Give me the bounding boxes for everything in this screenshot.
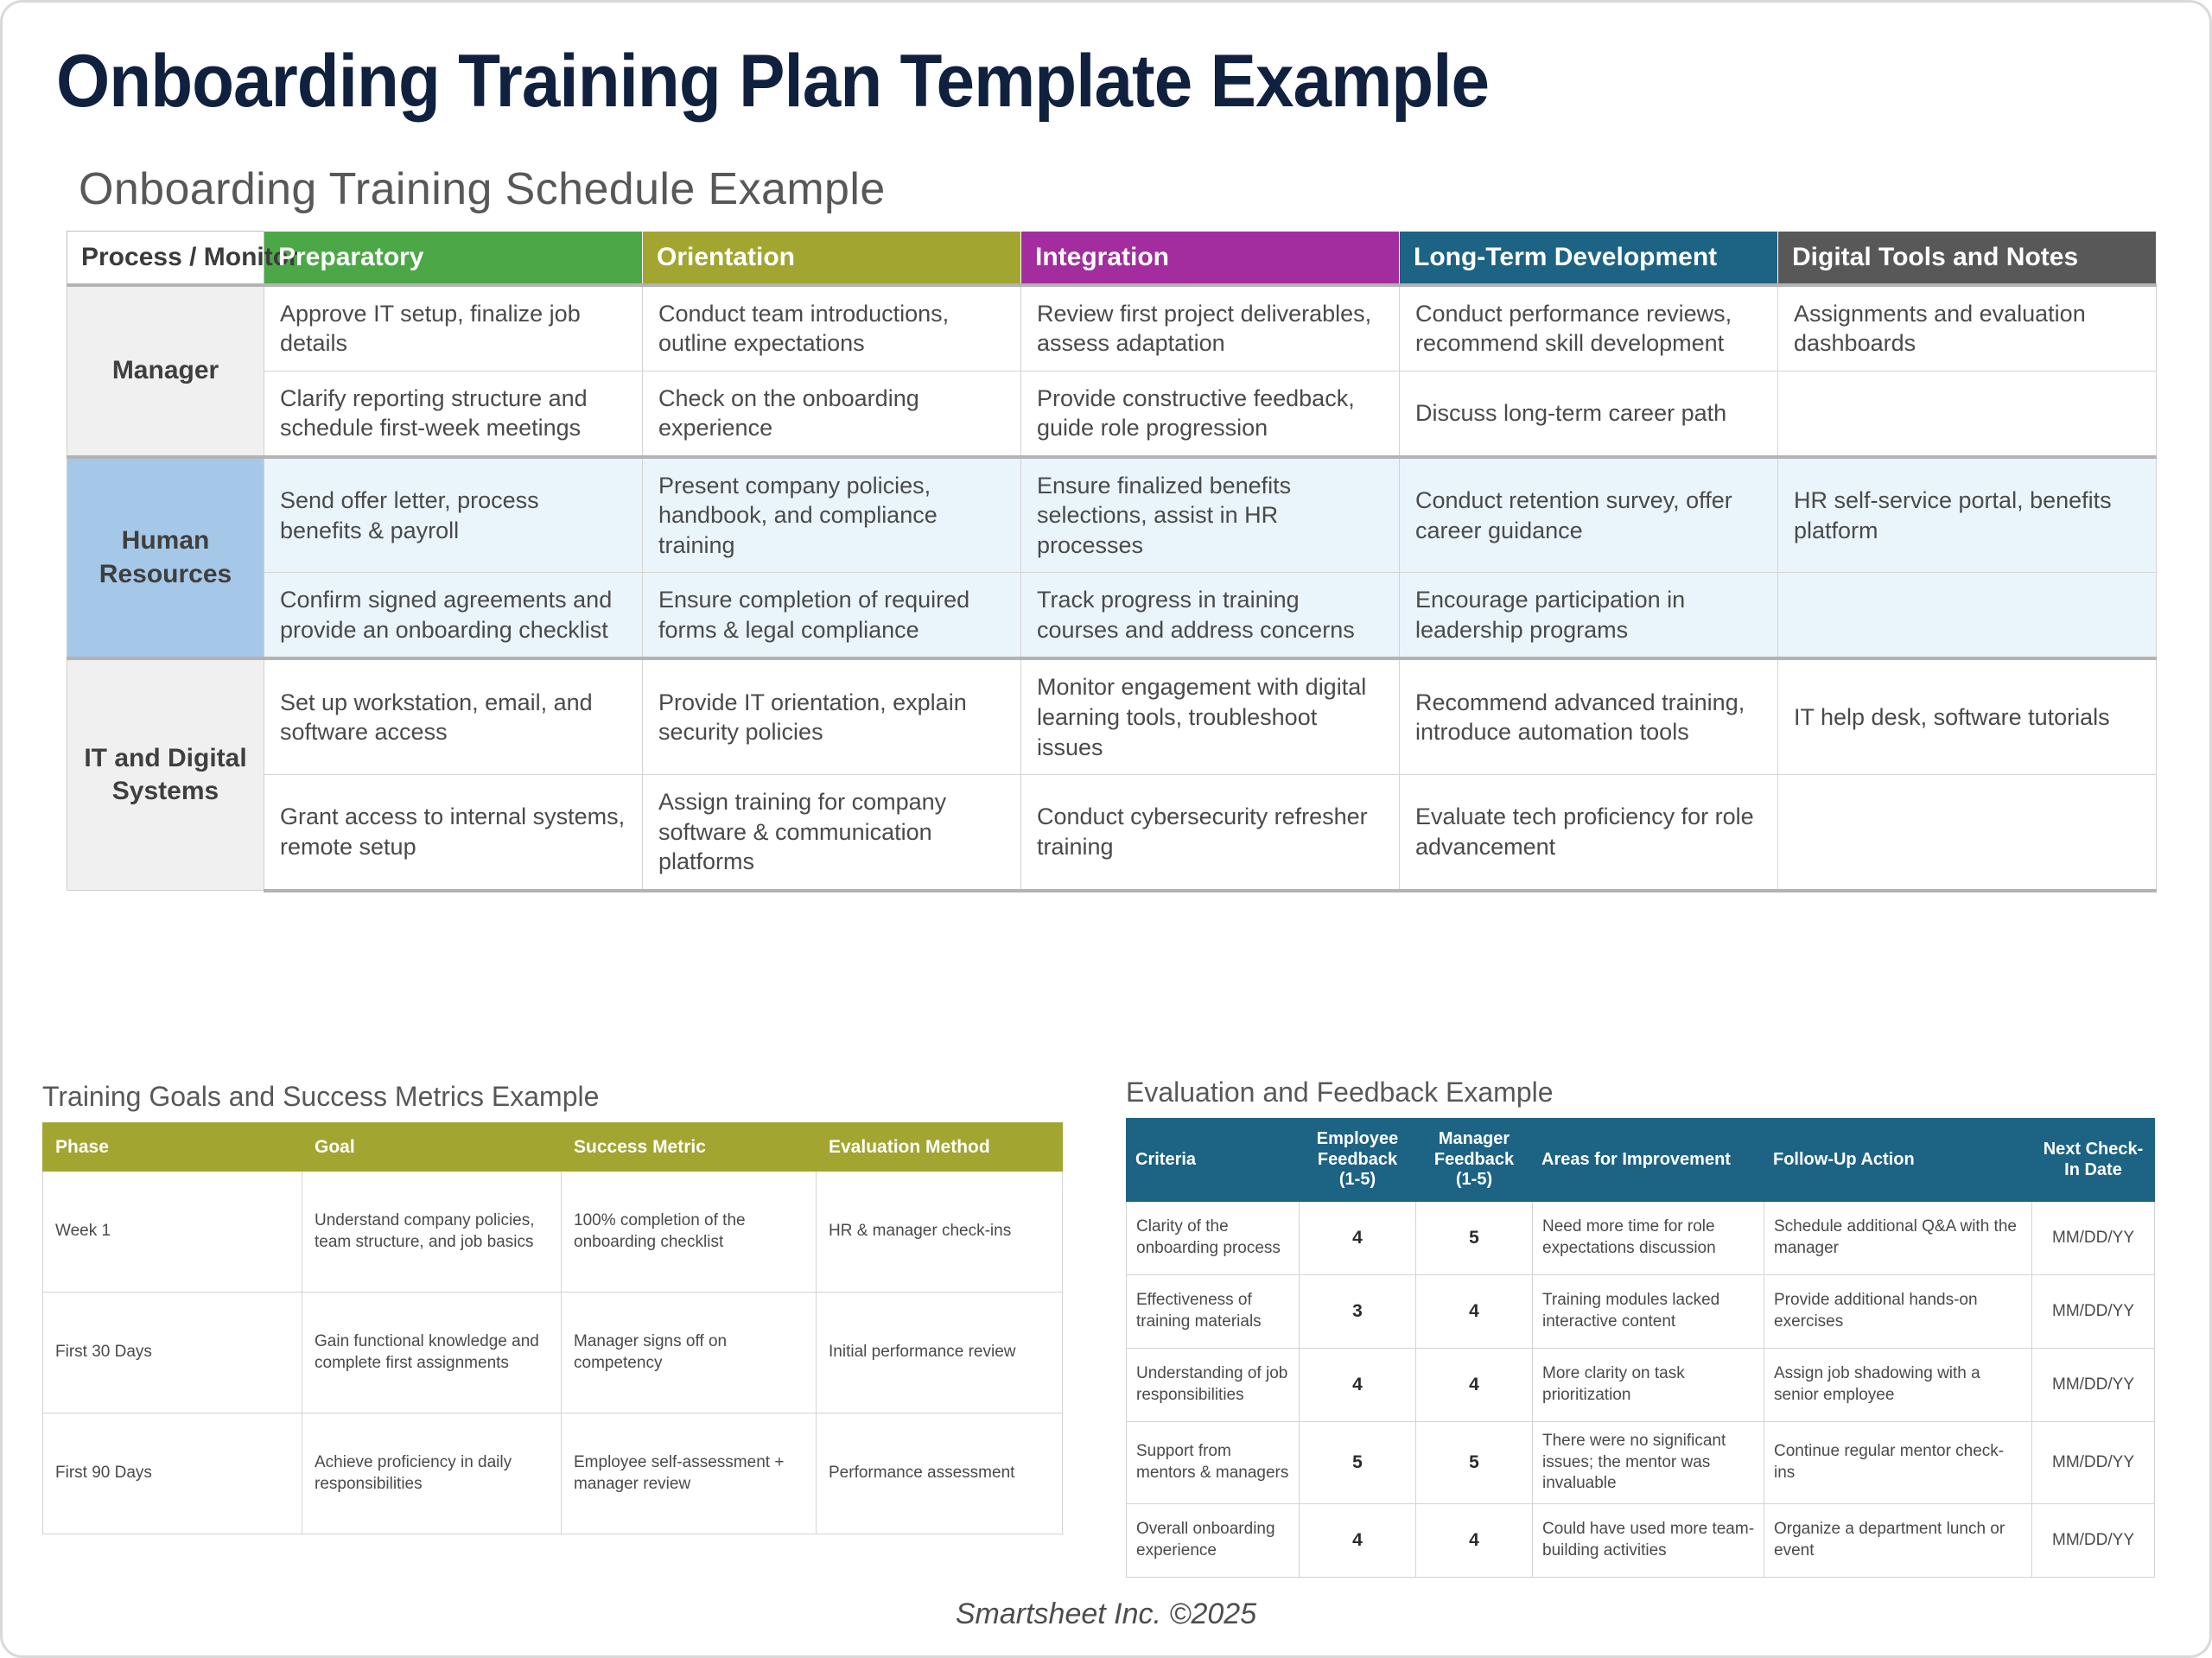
feedback-header-areas-for-improvement: Areas for Improvement	[1533, 1119, 1764, 1202]
schedule-header-long-term-development: Long-Term Development	[1400, 232, 1778, 285]
schedule-row: Human ResourcesSend offer letter, proces…	[67, 457, 2157, 573]
schedule-row: Confirm signed agreements and provide an…	[67, 573, 2157, 659]
feedback-followup: Provide additional hands-on exercises	[1764, 1275, 2032, 1349]
goals-cell: Initial performance review	[817, 1293, 1063, 1413]
schedule-cell	[1778, 573, 2157, 659]
page-title: Onboarding Training Plan Template Exampl…	[56, 39, 1489, 124]
feedback-improvement: More clarity on task prioritization	[1533, 1349, 1764, 1422]
feedback-criteria: Overall onboarding experience	[1127, 1504, 1300, 1578]
schedule-cell: Present company policies, handbook, and …	[643, 457, 1021, 573]
goals-row: Week 1Understand company policies, team …	[43, 1172, 1063, 1293]
schedule-cell: Monitor engagement with digital learning…	[1021, 658, 1400, 774]
onboarding-schedule-table-wrapper: Process / Monitor Preparatory Orientatio…	[67, 231, 2156, 893]
schedule-header-orientation: Orientation	[643, 232, 1021, 285]
feedback-manager-score: 4	[1416, 1349, 1533, 1422]
goals-table-body: Week 1Understand company policies, team …	[43, 1172, 1063, 1534]
feedback-manager-score: 5	[1416, 1202, 1533, 1275]
feedback-criteria: Understanding of job responsibilities	[1127, 1349, 1300, 1422]
schedule-role-label-manager: Manager	[67, 285, 264, 457]
feedback-header-row: Criteria Employee Feedback (1-5) Manager…	[1127, 1119, 2155, 1202]
schedule-cell	[1778, 371, 2157, 457]
goals-header-goal: Goal	[302, 1123, 562, 1172]
goals-cell: Understand company policies, team struct…	[302, 1172, 562, 1293]
onboarding-schedule-table: Process / Monitor Preparatory Orientatio…	[67, 231, 2157, 893]
feedback-manager-score: 4	[1416, 1275, 1533, 1349]
schedule-table-head: Process / Monitor Preparatory Orientatio…	[67, 232, 2157, 285]
goals-section-title: Training Goals and Success Metrics Examp…	[42, 1081, 599, 1113]
feedback-row: Effectiveness of training materials34Tra…	[1127, 1275, 2155, 1349]
schedule-cell: Send offer letter, process benefits & pa…	[264, 457, 643, 573]
feedback-row: Overall onboarding experience44Could hav…	[1127, 1504, 2155, 1578]
schedule-row: ManagerApprove IT setup, finalize job de…	[67, 285, 2157, 372]
schedule-cell: Conduct cybersecurity refresher training	[1021, 775, 1400, 891]
goals-header-row: Phase Goal Success Metric Evaluation Met…	[43, 1123, 1063, 1172]
goals-row: First 30 DaysGain functional knowledge a…	[43, 1293, 1063, 1413]
schedule-role-label-it-and-digital-systems: IT and Digital Systems	[67, 658, 264, 890]
schedule-cell: Discuss long-term career path	[1400, 371, 1778, 457]
schedule-cell: Set up workstation, email, and software …	[264, 658, 643, 774]
goals-cell: First 90 Days	[43, 1413, 302, 1534]
feedback-row: Understanding of job responsibilities44M…	[1127, 1349, 2155, 1422]
schedule-role-label-human-resources: Human Resources	[67, 457, 264, 659]
goals-cell: 100% completion of the onboarding checkl…	[562, 1172, 817, 1293]
schedule-cell: Review first project deliverables, asses…	[1021, 285, 1400, 372]
goals-header-evaluation-method: Evaluation Method	[817, 1123, 1063, 1172]
footer-copyright: Smartsheet Inc. ©2025	[3, 1598, 2209, 1631]
schedule-cell: Encourage participation in leadership pr…	[1400, 573, 1778, 659]
feedback-criteria: Clarity of the onboarding process	[1127, 1202, 1300, 1275]
feedback-next-date: MM/DD/YY	[2032, 1349, 2155, 1422]
schedule-cell: Assignments and evaluation dashboards	[1778, 285, 2157, 372]
feedback-next-date: MM/DD/YY	[2032, 1275, 2155, 1349]
goals-row: First 90 DaysAchieve proficiency in dail…	[43, 1413, 1063, 1534]
feedback-next-date: MM/DD/YY	[2032, 1504, 2155, 1578]
evaluation-feedback-table-wrapper: Criteria Employee Feedback (1-5) Manager…	[1126, 1118, 2154, 1578]
schedule-table-body: ManagerApprove IT setup, finalize job de…	[67, 285, 2157, 891]
schedule-cell: Provide constructive feedback, guide rol…	[1021, 371, 1400, 457]
schedule-cell: Evaluate tech proficiency for role advan…	[1400, 775, 1778, 891]
feedback-employee-score: 5	[1300, 1422, 1416, 1504]
schedule-cell: HR self-service portal, benefits platfor…	[1778, 457, 2157, 573]
feedback-improvement: Training modules lacked interactive cont…	[1533, 1275, 1764, 1349]
feedback-employee-score: 4	[1300, 1202, 1416, 1275]
schedule-cell: Ensure completion of required forms & le…	[643, 573, 1021, 659]
schedule-cell: Grant access to internal systems, remote…	[264, 775, 643, 891]
schedule-cell: Approve IT setup, finalize job details	[264, 285, 643, 372]
schedule-cell: IT help desk, software tutorials	[1778, 658, 2157, 774]
feedback-header-manager-feedback: Manager Feedback (1-5)	[1416, 1119, 1533, 1202]
feedback-manager-score: 4	[1416, 1504, 1533, 1578]
feedback-followup: Schedule additional Q&A with the manager	[1764, 1202, 2032, 1275]
feedback-followup: Continue regular mentor check-ins	[1764, 1422, 2032, 1504]
goals-table-head: Phase Goal Success Metric Evaluation Met…	[43, 1123, 1063, 1172]
feedback-row: Clarity of the onboarding process45Need …	[1127, 1202, 2155, 1275]
feedback-followup: Organize a department lunch or event	[1764, 1504, 2032, 1578]
feedback-section-title: Evaluation and Feedback Example	[1126, 1077, 1554, 1109]
feedback-criteria: Support from mentors & managers	[1127, 1422, 1300, 1504]
feedback-manager-score: 5	[1416, 1422, 1533, 1504]
feedback-followup: Assign job shadowing with a senior emplo…	[1764, 1349, 2032, 1422]
feedback-criteria: Effectiveness of training materials	[1127, 1275, 1300, 1349]
feedback-header-employee-feedback: Employee Feedback (1-5)	[1300, 1119, 1416, 1202]
feedback-improvement: There were no significant issues; the me…	[1533, 1422, 1764, 1504]
schedule-header-process-monitor: Process / Monitor	[67, 232, 264, 285]
schedule-row: IT and Digital SystemsSet up workstation…	[67, 658, 2157, 774]
template-page: Onboarding Training Plan Template Exampl…	[0, 0, 2212, 1658]
goals-cell: First 30 Days	[43, 1293, 302, 1413]
feedback-improvement: Could have used more team-building activ…	[1533, 1504, 1764, 1578]
goals-cell: Gain functional knowledge and complete f…	[302, 1293, 562, 1413]
feedback-table-head: Criteria Employee Feedback (1-5) Manager…	[1127, 1119, 2155, 1202]
schedule-cell: Track progress in training courses and a…	[1021, 573, 1400, 659]
evaluation-feedback-table: Criteria Employee Feedback (1-5) Manager…	[1126, 1118, 2155, 1578]
schedule-cell: Ensure finalized benefits selections, as…	[1021, 457, 1400, 573]
feedback-employee-score: 4	[1300, 1349, 1416, 1422]
feedback-row: Support from mentors & managers55There w…	[1127, 1422, 2155, 1504]
feedback-improvement: Need more time for role expectations dis…	[1533, 1202, 1764, 1275]
goals-cell: Performance assessment	[817, 1413, 1063, 1534]
goals-cell: Achieve proficiency in daily responsibil…	[302, 1413, 562, 1534]
schedule-section-title: Onboarding Training Schedule Example	[79, 163, 886, 215]
feedback-employee-score: 3	[1300, 1275, 1416, 1349]
goals-header-success-metric: Success Metric	[562, 1123, 817, 1172]
training-goals-table: Phase Goal Success Metric Evaluation Met…	[42, 1122, 1063, 1534]
schedule-cell: Recommend advanced training, introduce a…	[1400, 658, 1778, 774]
schedule-cell: Confirm signed agreements and provide an…	[264, 573, 643, 659]
feedback-header-follow-up-action: Follow-Up Action	[1764, 1119, 2032, 1202]
schedule-row: Clarify reporting structure and schedule…	[67, 371, 2157, 457]
schedule-cell: Conduct performance reviews, recommend s…	[1400, 285, 1778, 372]
schedule-header-integration: Integration	[1021, 232, 1400, 285]
schedule-cell: Conduct retention survey, offer career g…	[1400, 457, 1778, 573]
schedule-cell: Provide IT orientation, explain security…	[643, 658, 1021, 774]
schedule-cell: Clarify reporting structure and schedule…	[264, 371, 643, 457]
schedule-row: Grant access to internal systems, remote…	[67, 775, 2157, 891]
training-goals-table-wrapper: Phase Goal Success Metric Evaluation Met…	[42, 1122, 1062, 1534]
goals-cell: HR & manager check-ins	[817, 1172, 1063, 1293]
feedback-table-body: Clarity of the onboarding process45Need …	[1127, 1202, 2155, 1578]
schedule-header-row: Process / Monitor Preparatory Orientatio…	[67, 232, 2157, 285]
goals-cell: Week 1	[43, 1172, 302, 1293]
schedule-cell: Assign training for company software & c…	[643, 775, 1021, 891]
goals-header-phase: Phase	[43, 1123, 302, 1172]
schedule-cell: Check on the onboarding experience	[643, 371, 1021, 457]
feedback-next-date: MM/DD/YY	[2032, 1422, 2155, 1504]
schedule-cell	[1778, 775, 2157, 891]
feedback-employee-score: 4	[1300, 1504, 1416, 1578]
schedule-header-digital-tools-and-notes: Digital Tools and Notes	[1778, 232, 2157, 285]
schedule-cell: Conduct team introductions, outline expe…	[643, 285, 1021, 372]
goals-cell: Manager signs off on competency	[562, 1293, 817, 1413]
schedule-header-preparatory: Preparatory	[264, 232, 643, 285]
goals-cell: Employee self-assessment + manager revie…	[562, 1413, 817, 1534]
feedback-next-date: MM/DD/YY	[2032, 1202, 2155, 1275]
feedback-header-next-check-in-date: Next Check-In Date	[2032, 1119, 2155, 1202]
feedback-header-criteria: Criteria	[1127, 1119, 1300, 1202]
